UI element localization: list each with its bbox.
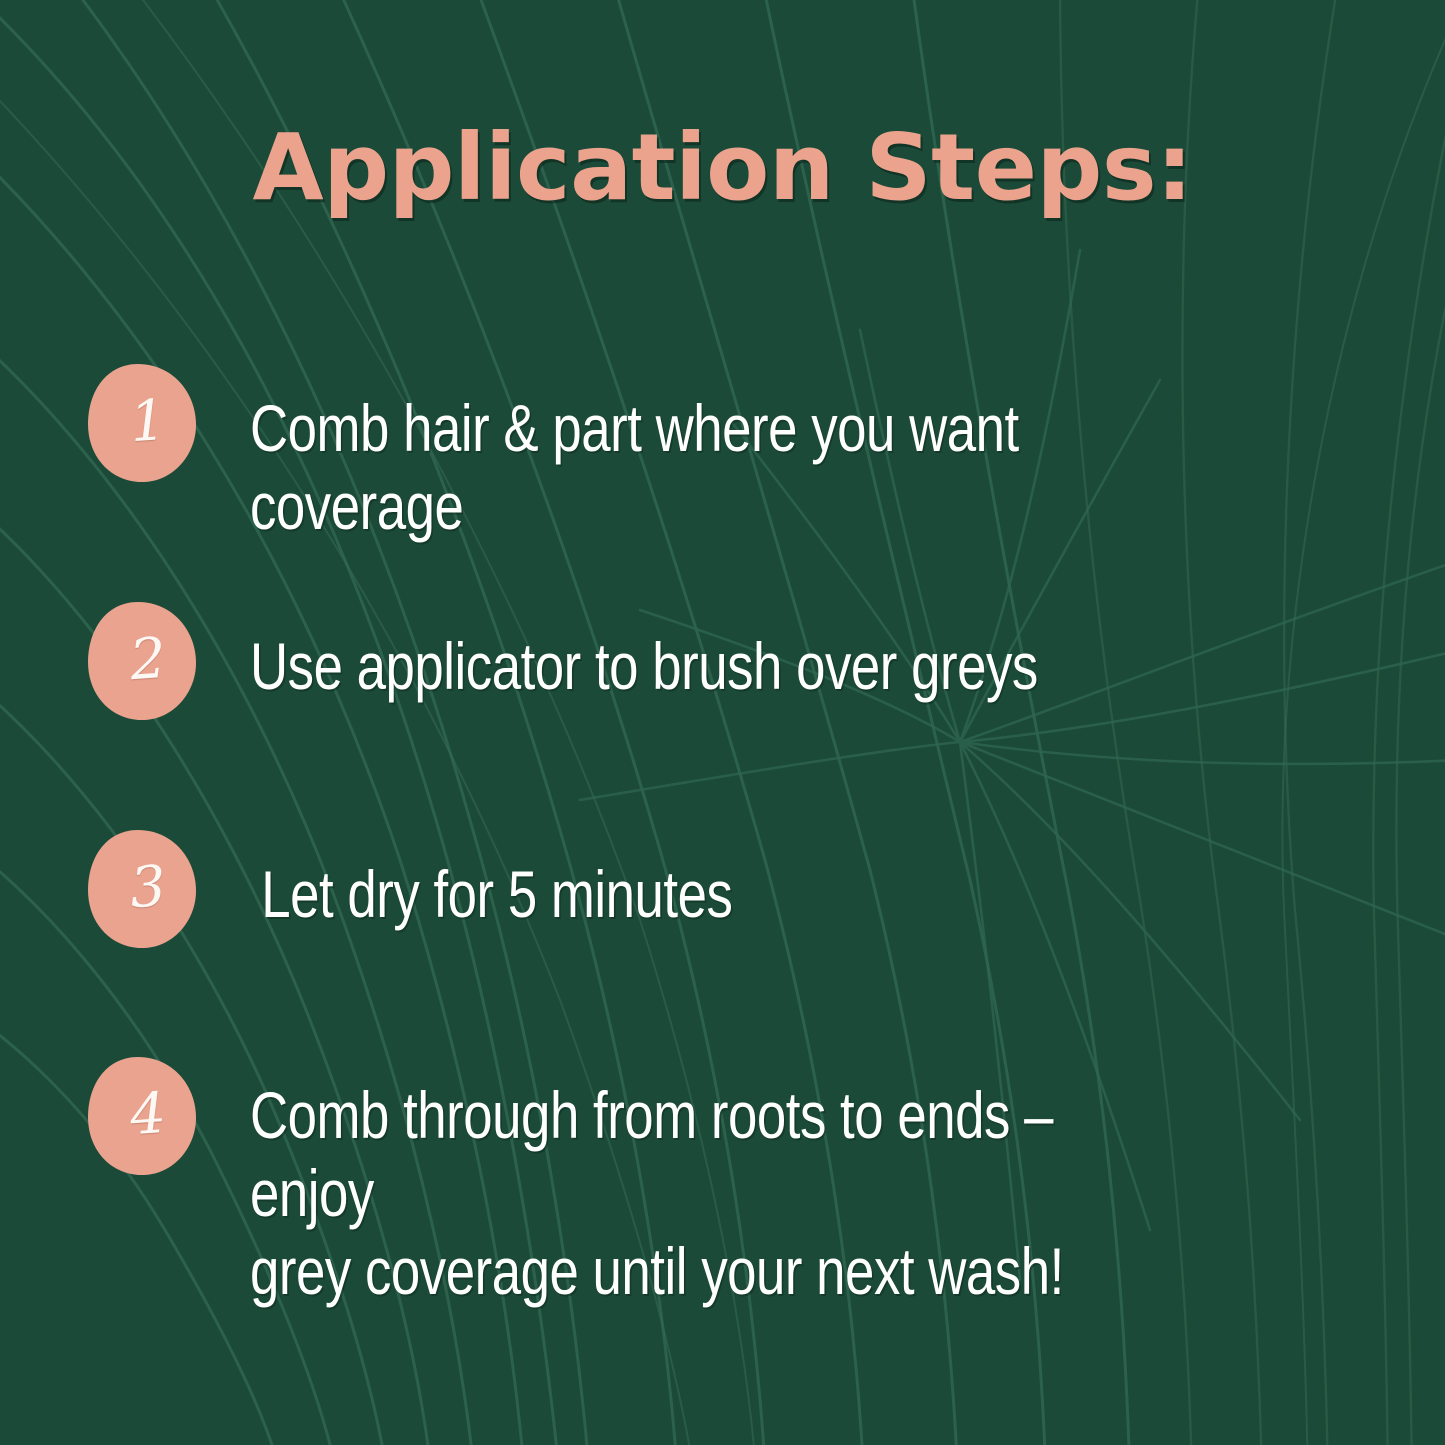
list-item: 2 Use applicator to brush over greys — [86, 600, 1375, 722]
application-steps-graphic: Application Steps: 1 Comb hair & part wh… — [0, 0, 1445, 1445]
step-number-text: 2 — [88, 594, 208, 724]
step-description: Comb hair & part where you want coverage — [250, 362, 1150, 546]
list-item: 4 Comb through from roots to ends – enjo… — [86, 1055, 1375, 1311]
step-number-text: 4 — [88, 1049, 208, 1179]
steps-list: 1 Comb hair & part where you want covera… — [0, 0, 1445, 1445]
step-description: Comb through from roots to ends – enjoy … — [250, 1055, 1150, 1311]
step-number-badge: 3 — [86, 828, 198, 950]
step-number-text: 3 — [88, 822, 208, 952]
step-description: Let dry for 5 minutes — [250, 828, 1150, 934]
step-description: Use applicator to brush over greys — [250, 600, 1150, 706]
step-number-badge: 2 — [86, 600, 198, 722]
step-number-badge: 1 — [86, 362, 198, 484]
step-number-text: 1 — [88, 356, 208, 486]
list-item: 3 Let dry for 5 minutes — [86, 828, 1375, 950]
step-number-badge: 4 — [86, 1055, 198, 1177]
list-item: 1 Comb hair & part where you want covera… — [86, 362, 1375, 546]
